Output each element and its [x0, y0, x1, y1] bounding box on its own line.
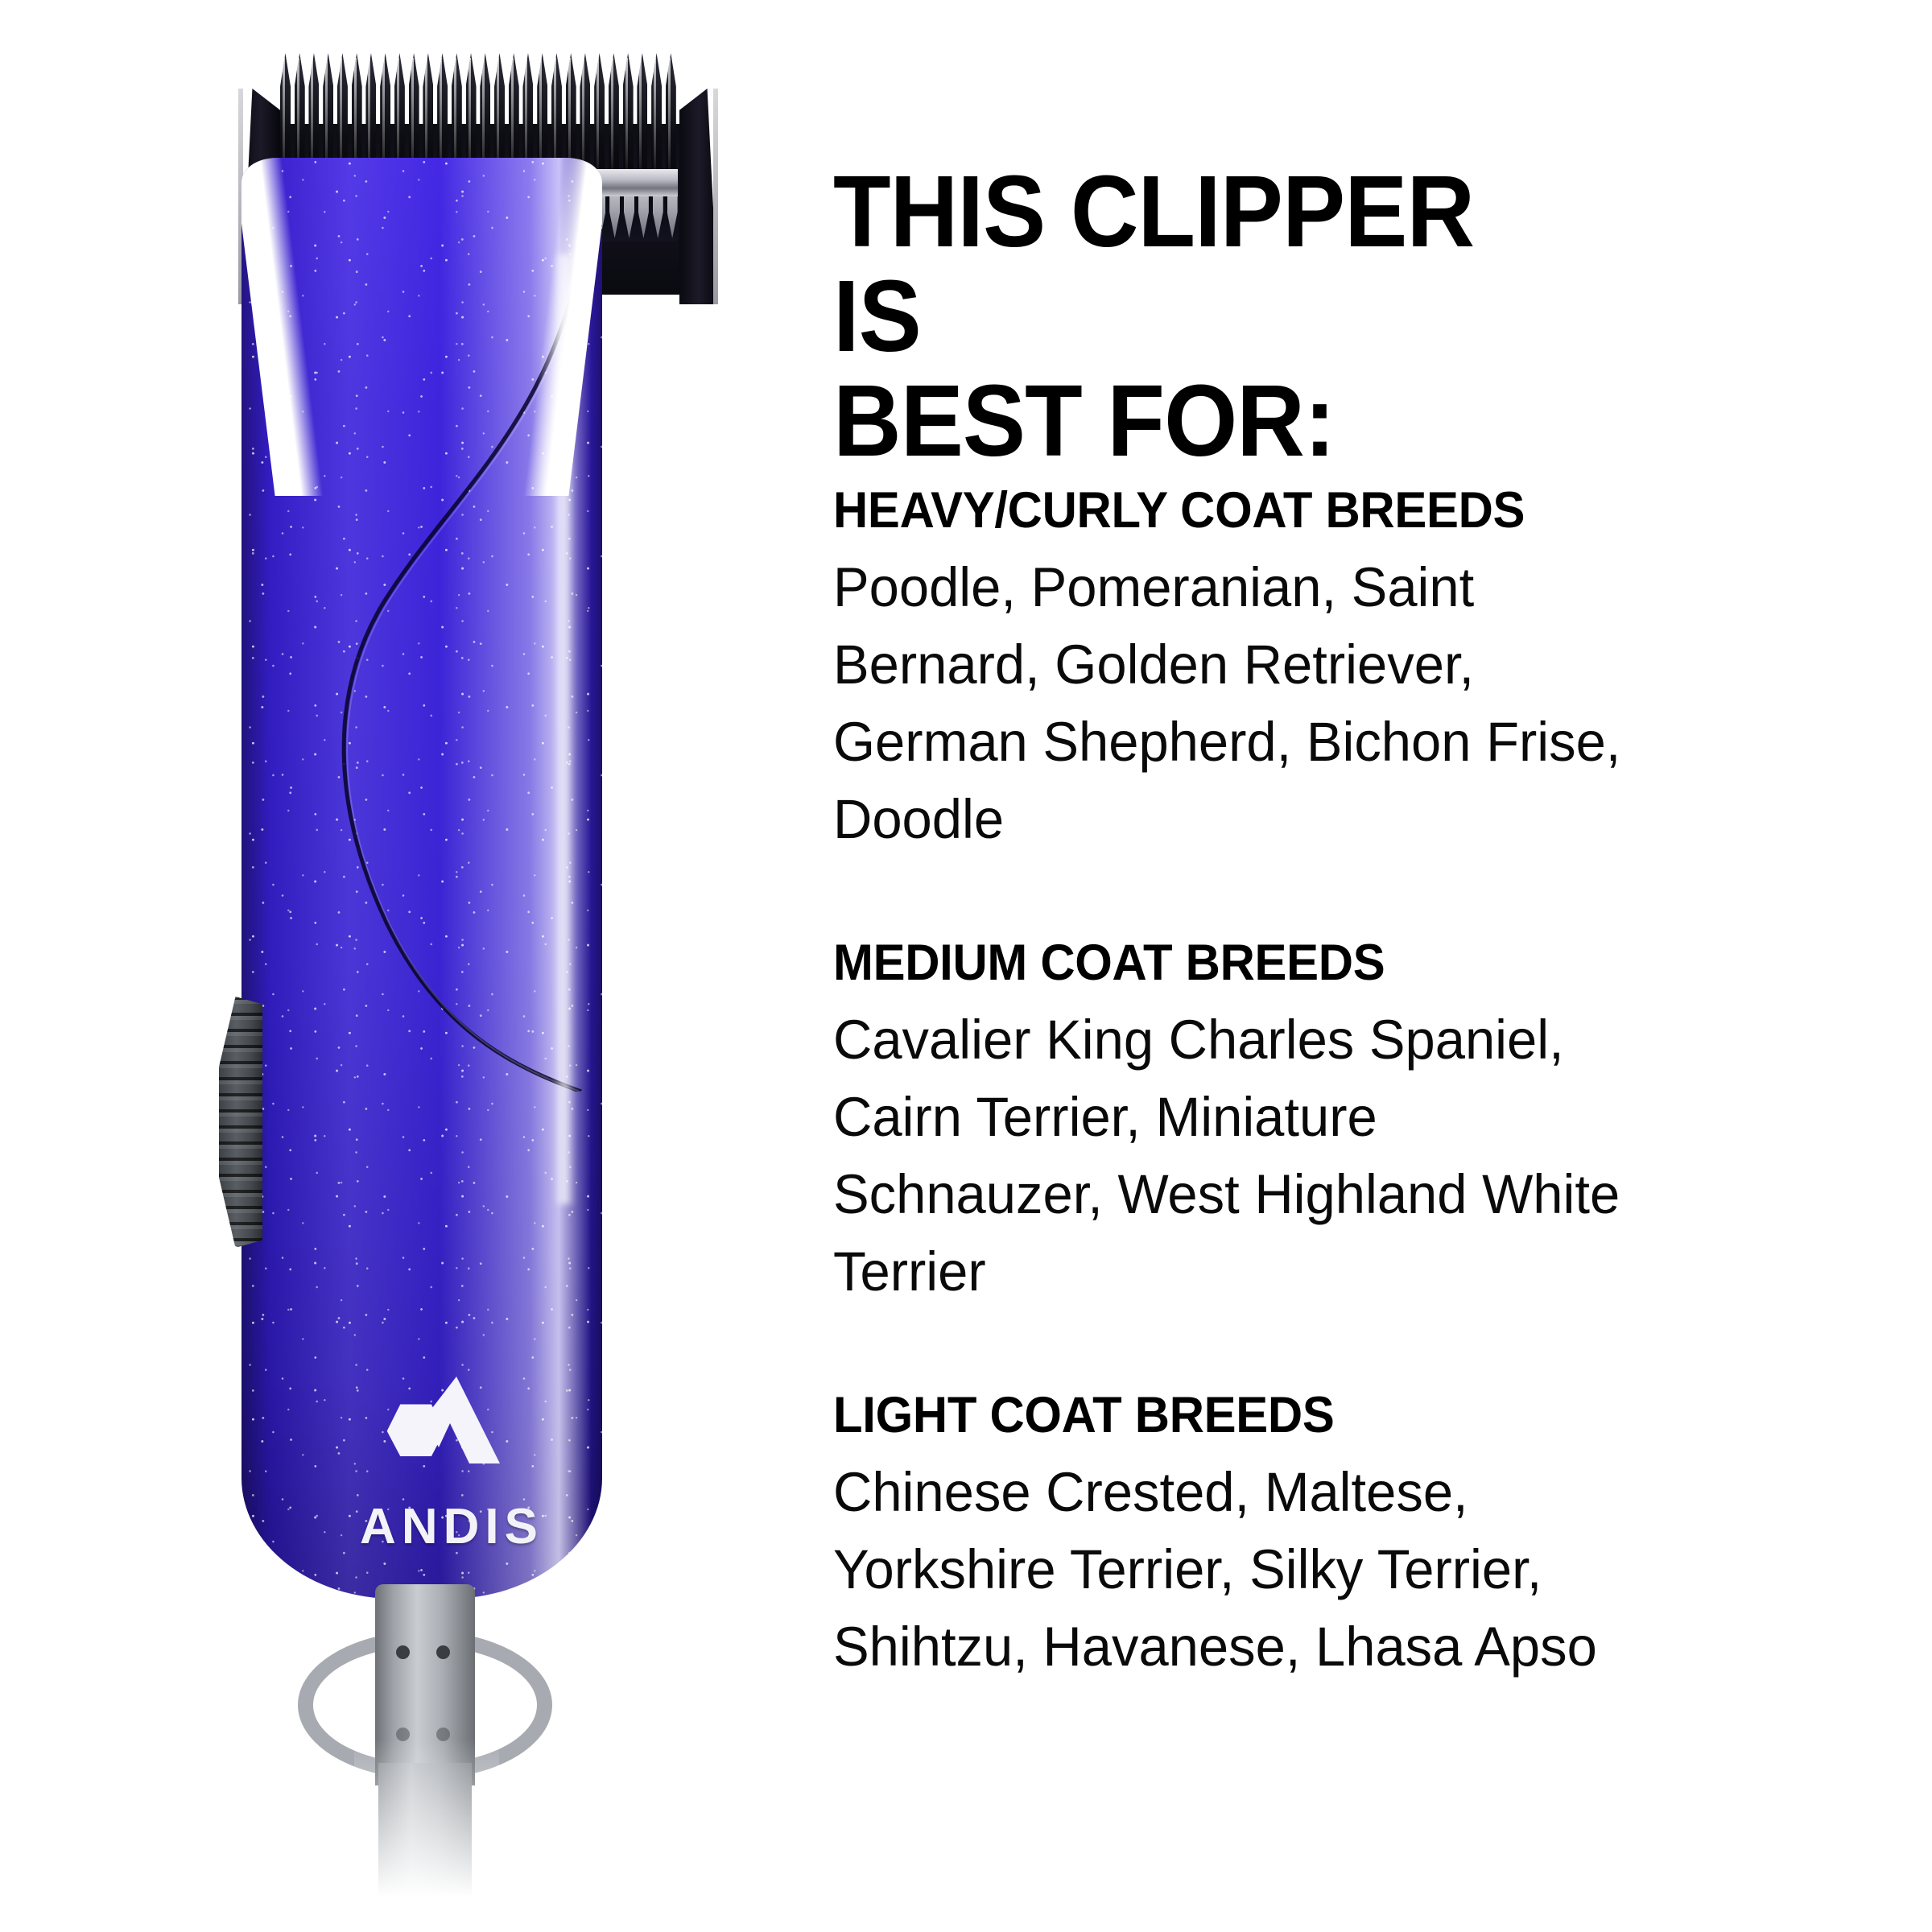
headline-line-1: THIS CLIPPER IS — [833, 155, 1474, 373]
andis-logo: ANDIS — [351, 1373, 552, 1552]
section-breed-list: Poodle, Pomeranian, Saint Bernard, Golde… — [833, 549, 1645, 858]
section-medium-coat: MEDIUM COAT BREEDS Cavalier King Charles… — [833, 935, 1666, 1311]
housing-specular-highlight — [554, 254, 575, 1204]
section-title: LIGHT COAT BREEDS — [833, 1388, 1624, 1443]
copy-column: THIS CLIPPER ISBEST FOR: HEAVY/CURLY COA… — [833, 0, 1686, 1932]
housing-seam-curve — [250, 254, 596, 1092]
section-breed-list: Cavalier King Charles Spaniel, Cairn Ter… — [833, 1001, 1645, 1311]
dial-ridges — [219, 997, 262, 1248]
andis-a-mark-icon — [379, 1373, 524, 1494]
product-image: ANDIS — [0, 0, 805, 1932]
cord-fade-overlay — [354, 1739, 499, 1932]
blade-end-cap-right — [679, 89, 718, 304]
andis-wordmark: ANDIS — [351, 1502, 552, 1552]
vent-hole — [396, 1645, 410, 1659]
section-heavy-curly-coat: HEAVY/CURLY COAT BREEDS Poodle, Pomerani… — [833, 483, 1666, 858]
page-title: THIS CLIPPER ISBEST FOR: — [833, 159, 1582, 473]
infographic-page: ANDIS THIS CLIPPER ISBEST FOR: HEAVY/CUR… — [0, 0, 1932, 1932]
section-title: HEAVY/CURLY COAT BREEDS — [833, 483, 1624, 538]
breed-sections: HEAVY/CURLY COAT BREEDS Poodle, Pomerani… — [833, 483, 1666, 1686]
power-switch-dial[interactable] — [219, 997, 262, 1248]
blade-edge-right — [713, 89, 718, 304]
section-light-coat: LIGHT COAT BREEDS Chinese Crested, Malte… — [833, 1388, 1666, 1686]
headline-line-2: BEST FOR: — [833, 364, 1335, 477]
section-breed-list: Chinese Crested, Maltese, Yorkshire Terr… — [833, 1454, 1645, 1686]
vent-hole — [436, 1645, 450, 1659]
section-title: MEDIUM COAT BREEDS — [833, 935, 1624, 990]
